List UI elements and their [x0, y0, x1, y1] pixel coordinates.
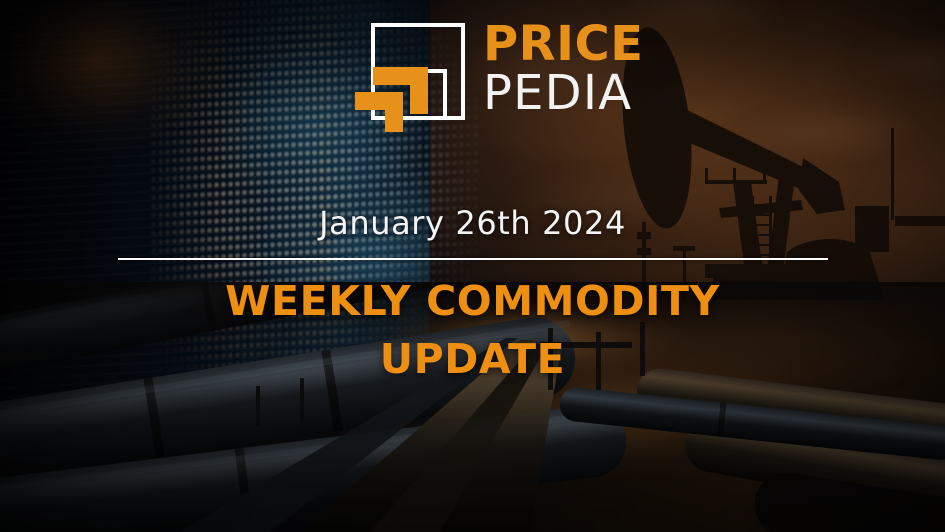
page-title-line-1: WEEKLY COMMODITY: [0, 272, 945, 330]
brand-wordmark: PRICE PEDIA: [483, 21, 644, 117]
wordmark-price: PRICE: [483, 21, 644, 68]
divider-rule: [118, 258, 828, 260]
wordmark-pedia: PEDIA: [483, 70, 644, 117]
title-slide: PRICE PEDIA January 26th 2024 WEEKLY COM…: [0, 0, 945, 532]
issue-date: January 26th 2024: [0, 204, 945, 242]
pricepedia-logo-mark-icon: [355, 14, 473, 132]
brand-logo-lockup[interactable]: PRICE PEDIA: [355, 14, 644, 132]
page-title: WEEKLY COMMODITY UPDATE: [0, 272, 945, 388]
page-title-line-2: UPDATE: [0, 330, 945, 388]
